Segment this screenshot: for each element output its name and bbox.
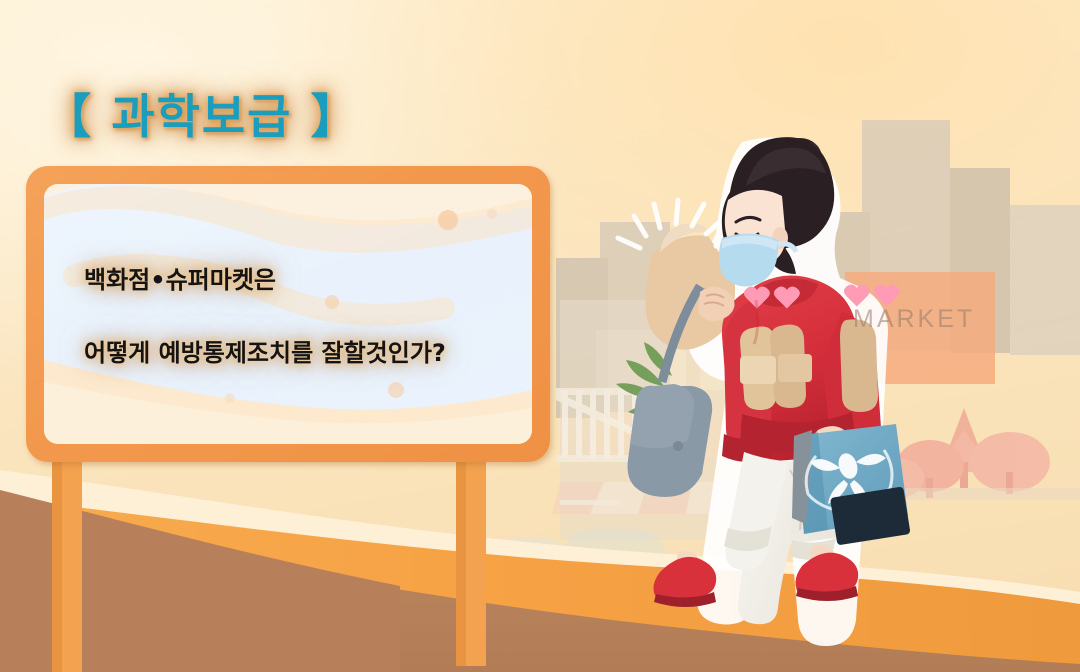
billboard-panel: 백화점•슈퍼마켓은 어떻게 예방통제조치를 잘할것인가? xyxy=(44,184,532,444)
billboard-line-2: 어떻게 예방통제조치를 잘할것인가? xyxy=(84,341,516,366)
billboard-legs xyxy=(0,456,560,672)
page-title: 【 과학보급 】 xyxy=(44,78,360,147)
billboard-message: 백화점•슈퍼마켓은 어떻게 예방통제조치를 잘할것인가? xyxy=(84,268,516,366)
billboard: 백화점•슈퍼마켓은 어떻게 예방통제조치를 잘할것인가? xyxy=(26,166,550,462)
shopping-bag xyxy=(792,424,911,545)
market-sign-text: MARKET xyxy=(853,305,975,334)
billboard-line-1: 백화점•슈퍼마켓은 xyxy=(84,268,516,293)
poster-canvas: MARKET 백화 xyxy=(0,0,1080,672)
